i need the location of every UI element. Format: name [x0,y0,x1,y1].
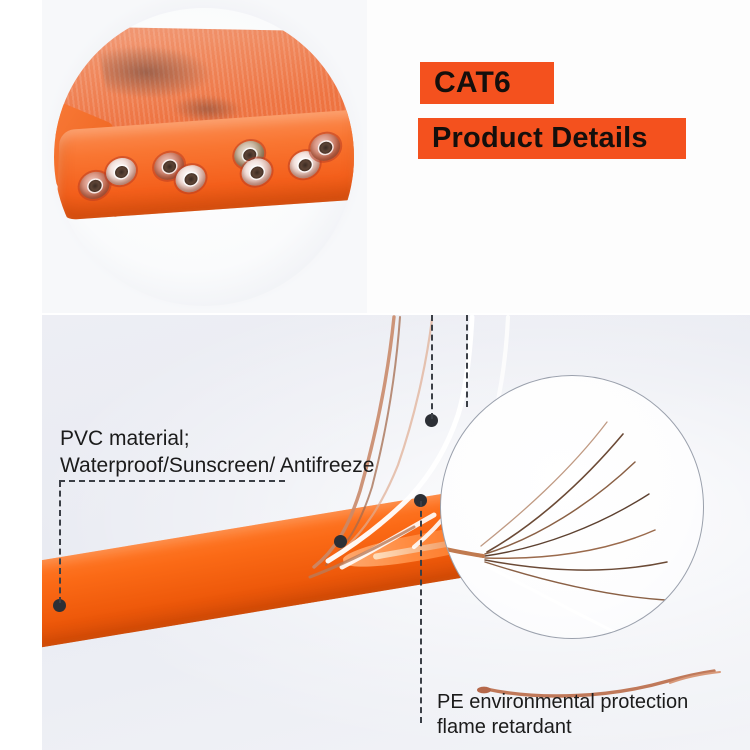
leader-line-insulation [431,315,433,419]
conductor-core [162,160,175,173]
leader-line-pvc-vertical [59,481,61,603]
conductor [175,164,206,193]
bottom-panel [42,315,750,750]
callout-pvc-material: PVC material; Waterproof/Sunscreen/ Anti… [60,425,374,479]
callout-pe-line2: flame retardant [437,715,688,740]
conductor-core [88,179,101,192]
conductor-core [298,158,311,171]
conductor-core [319,141,332,154]
leader-line-shield [466,315,468,407]
callout-pe-line1: PE environmental protection [437,690,688,715]
callout-pe-flame-retardant: PE environmental protection flame retard… [437,690,688,740]
leader-line-pvc-horizontal [59,480,285,482]
conductor [106,157,137,186]
callout-pvc-line1: PVC material; [60,425,374,452]
conductor-core [114,165,127,178]
badge-cat6-label: CAT6 [434,66,511,100]
leader-line-pe [420,501,422,723]
top-panel: CAT6 Product Details [42,0,750,313]
jacket-printed-text [99,46,216,99]
leader-dot-jacket-split [334,535,347,548]
product-detail-image: CAT6 Product Details [0,0,750,750]
macro-vignette [54,8,354,306]
callout-pvc-line2: Waterproof/Sunscreen/ Antifreeze [60,452,374,479]
conductor-core [250,166,263,179]
conductor [241,158,272,187]
badge-product-details: Product Details [418,118,686,159]
magnifier-circle [440,375,704,639]
cable-cross-section-photo [42,0,367,313]
conductor-core [184,172,197,185]
copper-strands [441,376,703,638]
conductor [310,133,341,162]
badge-product-details-label: Product Details [432,122,648,155]
badge-cat6: CAT6 [420,62,554,104]
